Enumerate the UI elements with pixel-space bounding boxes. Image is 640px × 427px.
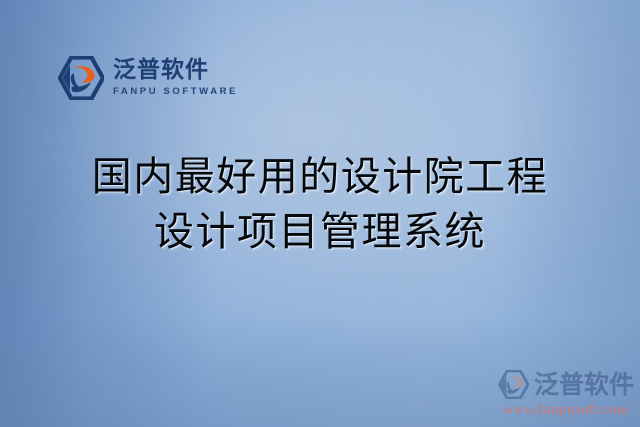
brand-name-en: FANPU SOFTWARE bbox=[113, 87, 238, 97]
watermark-logo-row: 泛普软件 bbox=[498, 370, 634, 399]
slide-headline: 国内最好用的设计院工程 设计项目管理系统 bbox=[0, 150, 640, 260]
brand-name-cn: 泛普软件 bbox=[113, 59, 238, 82]
headline-line-1: 国内最好用的设计院工程 bbox=[0, 150, 640, 205]
watermark-url: www.fanpusoft.com bbox=[503, 402, 629, 419]
brand-lockup: 泛普软件 FANPU SOFTWARE bbox=[58, 56, 238, 100]
fanpu-logo-icon bbox=[58, 56, 104, 100]
watermark: 泛普软件 www.fanpusoft.com bbox=[498, 370, 634, 419]
slide-canvas: 泛普软件 FANPU SOFTWARE 国内最好用的设计院工程 设计项目管理系统… bbox=[0, 0, 640, 427]
brand-wordmark: 泛普软件 FANPU SOFTWARE bbox=[113, 59, 238, 97]
watermark-name-cn: 泛普软件 bbox=[534, 372, 634, 397]
fanpu-logo-watermark-icon bbox=[498, 370, 529, 399]
headline-line-2: 设计项目管理系统 bbox=[0, 205, 640, 260]
